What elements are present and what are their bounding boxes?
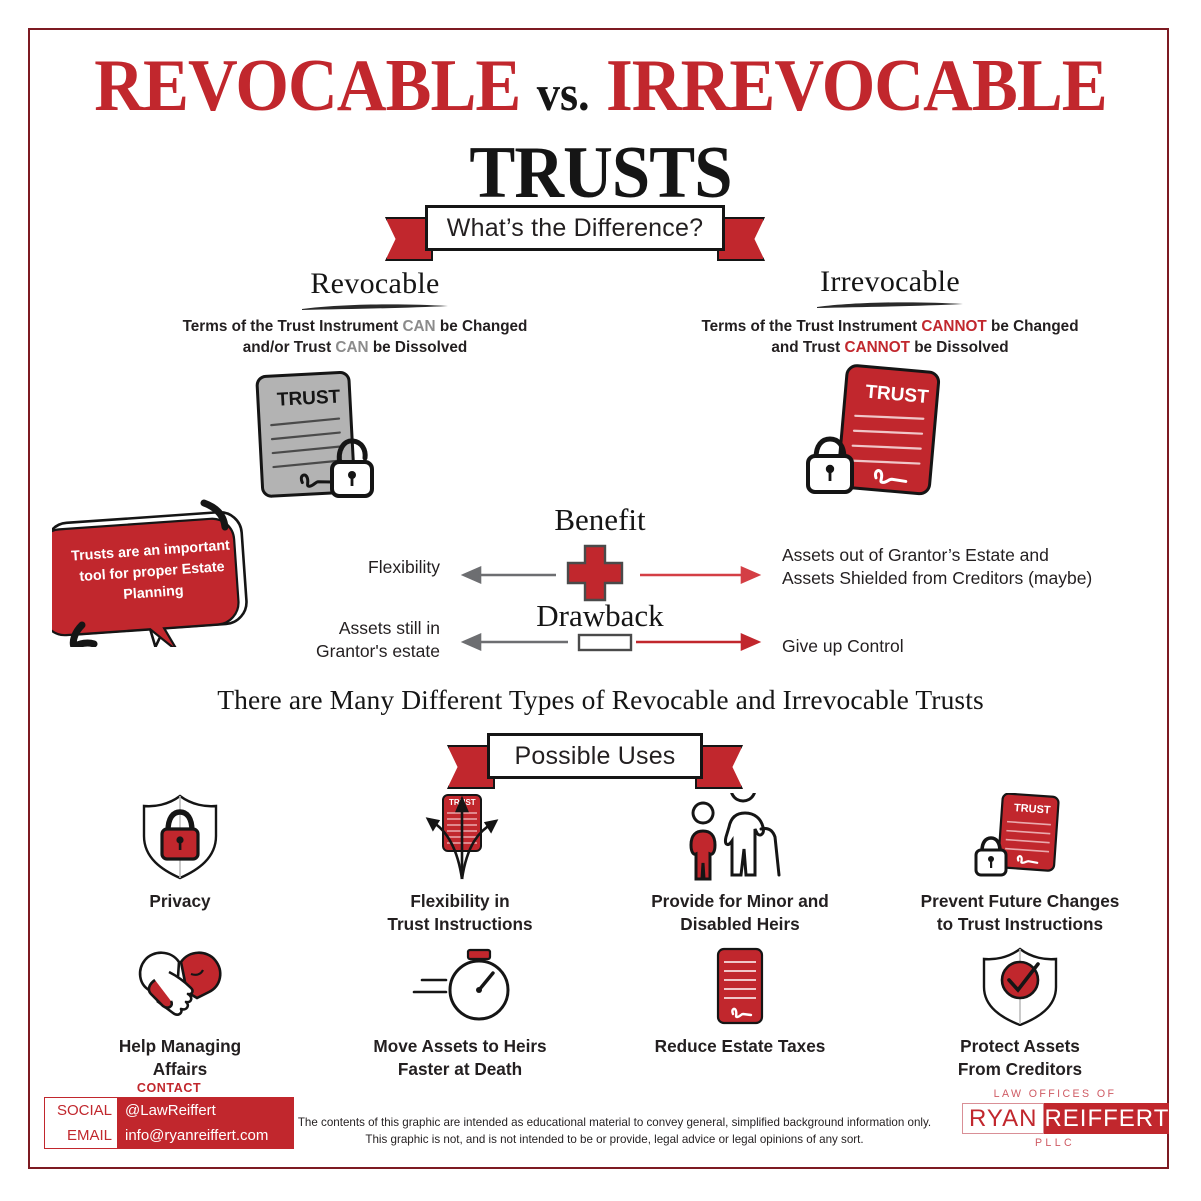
use-item-privacy: Privacy	[40, 793, 320, 936]
column-subtitle-revocable: Terms of the Trust Instrument CAN be Cha…	[105, 316, 605, 358]
use-label-line2: Trust Instructions	[320, 913, 600, 936]
contact-title: CONTACT	[44, 1081, 294, 1095]
use-label-line1: Flexibility in	[320, 890, 600, 913]
use-item-prevent-changes: TRUST Prevent Future Changes to Trust In…	[880, 793, 1160, 936]
icon-art	[40, 938, 320, 1026]
email-address[interactable]: info@ryanreiffert.com	[125, 1123, 293, 1148]
banner-label: What’s the Difference?	[425, 205, 725, 251]
sub-post: be Changed	[987, 318, 1079, 335]
icon-art	[40, 793, 320, 881]
email-key: EMAIL	[67, 1123, 112, 1148]
use-label-line1: Help Managing	[40, 1035, 320, 1058]
sub-post-2: be Dissolved	[369, 339, 468, 356]
use-item-flexibility: TRUST Flexibility in Trust Instructi	[320, 793, 600, 936]
speech-bubble-callout: Trusts are an important tool for proper …	[52, 497, 252, 647]
icon-art	[320, 938, 600, 1026]
sub-pre-2: and Trust	[771, 339, 844, 356]
use-label-line1: Privacy	[40, 890, 320, 913]
sub-pre: Terms of the Trust Instrument	[701, 318, 921, 335]
icon-art	[600, 793, 880, 881]
use-label-line1: Protect Assets	[880, 1035, 1160, 1058]
shield-check-icon	[978, 946, 1062, 1026]
benefit-left-text: Flexibility	[280, 556, 440, 579]
disclaimer-line2: This graphic is not, and is not intended…	[282, 1131, 947, 1148]
drawback-left-line2: Grantor's estate	[240, 640, 440, 663]
sub-post-2: be Dissolved	[910, 339, 1009, 356]
use-label-line2: Disabled Heirs	[600, 913, 880, 936]
use-label: Prevent Future Changes to Trust Instruct…	[880, 890, 1160, 936]
use-item-managing-affairs: Help Managing Affairs	[40, 938, 320, 1081]
shield-lock-icon	[138, 793, 222, 881]
banner-whats-the-difference: What’s the Difference?	[425, 205, 725, 251]
sub-emphasis-2: CAN	[335, 339, 368, 356]
use-label-line2: Faster at Death	[320, 1058, 600, 1081]
benefit-right-line2: Assets Shielded from Creditors (maybe)	[782, 567, 1162, 590]
use-label: Move Assets to Heirs Faster at Death	[320, 1035, 600, 1081]
social-handle[interactable]: @LawReiffert	[125, 1098, 293, 1123]
title-word-trusts: TRUSTS	[469, 132, 731, 214]
use-label: Help Managing Affairs	[40, 1035, 320, 1081]
use-label: Protect Assets From Creditors	[880, 1035, 1160, 1081]
heading-text: Revocable	[175, 267, 575, 301]
sub-pre: Terms of the Trust Instrument	[183, 318, 403, 335]
sub-post: be Changed	[436, 318, 528, 335]
drawback-arrows-and-minus-icon	[440, 622, 780, 662]
use-label-line1: Move Assets to Heirs	[320, 1035, 600, 1058]
contact-keys: SOCIAL EMAIL	[45, 1098, 117, 1148]
drawback-left-text: Assets still in Grantor's estate	[240, 617, 440, 663]
sub-emphasis: CANNOT	[921, 318, 986, 335]
use-label: Flexibility in Trust Instructions	[320, 890, 600, 936]
column-heading-irrevocable: Irrevocable	[690, 265, 1090, 310]
use-label-line2: From Creditors	[880, 1058, 1160, 1081]
underline-swoosh-icon	[815, 300, 965, 310]
possible-uses-row-2: Help Managing Affairs Move Assets to Hei…	[40, 938, 1160, 1081]
icon-art	[880, 938, 1160, 1026]
trust-document-arrows-icon: TRUST	[405, 793, 515, 881]
sub-pre-2: and/or Trust	[243, 339, 336, 356]
red-document-icon	[705, 946, 775, 1026]
logo-first-name: RYAN	[962, 1103, 1044, 1134]
icon-art: TRUST	[880, 793, 1160, 881]
column-heading-revocable: Revocable	[175, 267, 575, 312]
sub-emphasis-2: CANNOT	[845, 339, 910, 356]
types-of-trusts-line: There are Many Different Types of Revoca…	[0, 684, 1201, 716]
contact-values: @LawReiffert info@ryanreiffert.com	[117, 1098, 293, 1148]
use-label-line2: to Trust Instructions	[880, 913, 1160, 936]
logo-tagline: LAW OFFICES OF	[962, 1088, 1148, 1100]
stopwatch-icon	[400, 946, 520, 1026]
drawback-right-text: Give up Control	[782, 635, 1082, 658]
logo-wordmark: RYAN REIFFERT	[962, 1103, 1148, 1134]
use-label: Reduce Estate Taxes	[600, 1035, 880, 1058]
use-item-reduce-taxes: Reduce Estate Taxes	[600, 938, 880, 1081]
banner-possible-uses: Possible Uses	[487, 733, 703, 779]
locked-trust-document-icon: TRUST	[800, 362, 942, 504]
benefit-right-text: Assets out of Grantor’s Estate and Asset…	[782, 544, 1162, 590]
use-label-line2: Affairs	[40, 1058, 320, 1081]
drawback-left-line1: Assets still in	[240, 617, 440, 640]
unlocked-trust-document-icon: TRUST	[252, 368, 394, 508]
sub-emphasis: CAN	[402, 318, 435, 335]
use-label-line1: Provide for Minor and	[600, 890, 880, 913]
use-label: Provide for Minor and Disabled Heirs	[600, 890, 880, 936]
icon-art	[600, 938, 880, 1026]
heading-text: Irrevocable	[690, 265, 1090, 299]
icon-art: TRUST	[320, 793, 600, 881]
use-item-move-assets: Move Assets to Heirs Faster at Death	[320, 938, 600, 1081]
possible-uses-row-1: Privacy TRUST	[40, 793, 1160, 936]
banner-label: Possible Uses	[487, 733, 703, 779]
underline-swoosh-icon	[300, 302, 450, 312]
law-firm-logo: LAW OFFICES OF RYAN REIFFERT PLLC	[962, 1088, 1148, 1149]
social-key: SOCIAL	[57, 1098, 112, 1123]
svg-text:TRUST: TRUST	[1014, 802, 1052, 817]
svg-text:TRUST: TRUST	[276, 386, 341, 410]
bubble-text: Trusts are an important tool for proper …	[47, 490, 257, 654]
benefit-label: Benefit	[470, 502, 730, 538]
title-vs: vs.	[537, 65, 590, 121]
locked-trust-document-icon: TRUST	[968, 793, 1072, 881]
use-item-protect-assets: Protect Assets From Creditors	[880, 938, 1160, 1081]
contact-box: SOCIAL EMAIL @LawReiffert info@ryanreiff…	[44, 1097, 294, 1149]
use-label-line1: Reduce Estate Taxes	[600, 1035, 880, 1058]
page-title: REVOCABLE vs. IRREVOCABLE TRUSTS	[0, 54, 1201, 205]
use-label-line1: Prevent Future Changes	[880, 890, 1160, 913]
adult-and-child-icon	[681, 793, 799, 881]
use-item-minor-heirs: Provide for Minor and Disabled Heirs	[600, 793, 880, 936]
title-word-revocable: REVOCABLE	[94, 45, 520, 127]
column-subtitle-irrevocable: Terms of the Trust Instrument CANNOT be …	[640, 316, 1140, 358]
handshake-icon	[125, 946, 235, 1026]
logo-entity-type: PLLC	[962, 1137, 1148, 1149]
use-label: Privacy	[40, 890, 320, 913]
disclaimer: The contents of this graphic are intende…	[282, 1114, 947, 1148]
logo-last-name: REIFFERT	[1044, 1103, 1169, 1134]
benefit-right-line1: Assets out of Grantor’s Estate and	[782, 544, 1162, 567]
title-word-irrevocable: IRREVOCABLE	[606, 45, 1107, 127]
disclaimer-line1: The contents of this graphic are intende…	[282, 1114, 947, 1131]
